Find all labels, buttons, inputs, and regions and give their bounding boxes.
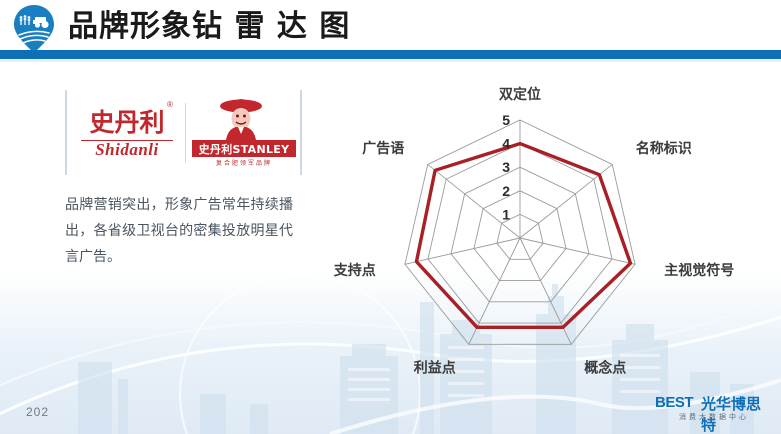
page-title: 品牌形象钻 雷 达 图 <box>68 6 350 48</box>
shidanli-en-label: Shidanli <box>75 140 179 160</box>
brand-description: 品牌营销突出，形象广告常年持续播出，各省级卫视台的密集投放明星代言广告。 <box>65 192 293 270</box>
radar-chart-svg: 12345双定位名称标识主视觉符号概念点利益点支持点广告语 <box>330 70 750 380</box>
brand-info-panel: 史丹利 ® Shidanli 史丹利STANLEY <box>55 82 305 282</box>
registered-mark: ® <box>167 100 173 109</box>
slide: 品牌形象钻 雷 达 图 史丹利 ® Shidanli <box>0 0 781 434</box>
location-pin-agriculture-icon <box>8 3 60 55</box>
radar-tick-label: 3 <box>502 159 510 175</box>
radar-axis-label-5: 支持点 <box>333 262 376 279</box>
radar-tick-label: 5 <box>502 112 510 128</box>
radar-axis-label-2: 主视觉符号 <box>664 262 734 279</box>
radar-axis-label-6: 广告语 <box>362 140 404 157</box>
header-accent-bar-shadow <box>0 59 781 62</box>
radar-axis-label-4: 利益点 <box>414 360 456 377</box>
radar-axis-label-3: 概念点 <box>584 360 626 377</box>
radar-tick-label: 1 <box>502 206 510 222</box>
radar-chart: 12345双定位名称标识主视觉符号概念点利益点支持点广告语 <box>330 70 750 380</box>
radar-axis-label-0: 双定位 <box>499 86 541 103</box>
radar-tick-label: 2 <box>502 183 510 199</box>
stanley-name-bar: 史丹利STANLEY <box>192 140 296 157</box>
footer-logo-best: BEST <box>655 394 693 411</box>
slide-header: 品牌形象钻 雷 达 图 <box>0 0 781 56</box>
cowboy-mascot-icon <box>212 94 270 140</box>
radar-axis-label-1: 名称标识 <box>636 140 692 157</box>
stanley-logo: 史丹利STANLEY 复合肥领军品牌 <box>186 90 300 175</box>
shidanli-logo: 史丹利 ® Shidanli <box>67 90 185 175</box>
page-number: 202 <box>26 405 49 419</box>
stanley-subtitle: 复合肥领军品牌 <box>192 158 296 167</box>
footer-logo: BEST 光华博思特 消费大数据中心 <box>655 392 773 426</box>
footer-logo-subtitle: 消费大数据中心 <box>679 412 749 422</box>
brand-logo-box: 史丹利 ® Shidanli 史丹利STANLEY <box>65 90 302 175</box>
radar-tick-label: 4 <box>502 136 510 152</box>
shidanli-cn-label: 史丹利 <box>75 104 179 138</box>
header-accent-bar <box>0 50 781 59</box>
